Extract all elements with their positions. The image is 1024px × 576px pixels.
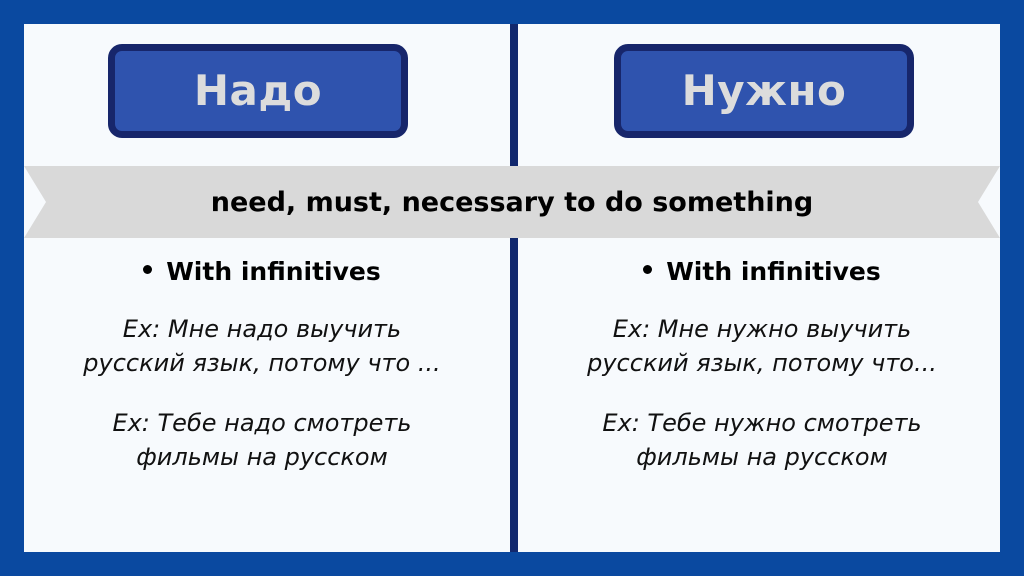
example-left-1-line1: Ex: Мне надо выучить <box>47 312 477 346</box>
example-left-1-line2: русский язык, потому что ... <box>47 346 477 380</box>
header-button-nuzhno[interactable]: Нужно <box>614 44 914 138</box>
header-button-nado-label: Надо <box>194 70 322 112</box>
definition-banner: need, must, necessary to do something <box>24 166 1000 238</box>
bullet-dot-icon <box>143 265 152 274</box>
column-nado: With infinitives Ex: Мне надо выучить ру… <box>27 258 497 474</box>
bullet-dot-icon <box>643 265 652 274</box>
definition-banner-text: need, must, necessary to do something <box>211 187 813 218</box>
example-left-1: Ex: Мне надо выучить русский язык, потом… <box>47 312 477 380</box>
header-button-nuzhno-label: Нужно <box>682 70 847 112</box>
example-right-2-line1: Ex: Тебе нужно смотреть <box>547 406 977 440</box>
bullet-label-right: With infinitives <box>666 258 881 286</box>
slide-root: Надо Нужно need, must, necessary to do s… <box>0 0 1024 576</box>
bullet-item-right: With infinitives <box>643 258 881 286</box>
example-left-2-line1: Ex: Тебе надо смотреть <box>47 406 477 440</box>
bullet-item-left: With infinitives <box>143 258 381 286</box>
example-right-1: Ex: Мне нужно выучить русский язык, пото… <box>547 312 977 380</box>
column-nuzhno: With infinitives Ex: Мне нужно выучить р… <box>527 258 997 474</box>
example-right-1-line2: русский язык, потому что... <box>547 346 977 380</box>
header-button-nado[interactable]: Надо <box>108 44 408 138</box>
example-left-2-line2: фильмы на русском <box>47 440 477 474</box>
example-left-2: Ex: Тебе надо смотреть фильмы на русском <box>47 406 477 474</box>
example-right-2: Ex: Тебе нужно смотреть фильмы на русско… <box>547 406 977 474</box>
example-right-1-line1: Ex: Мне нужно выучить <box>547 312 977 346</box>
example-right-2-line2: фильмы на русском <box>547 440 977 474</box>
bullet-label-left: With infinitives <box>166 258 381 286</box>
column-divider <box>510 24 518 552</box>
